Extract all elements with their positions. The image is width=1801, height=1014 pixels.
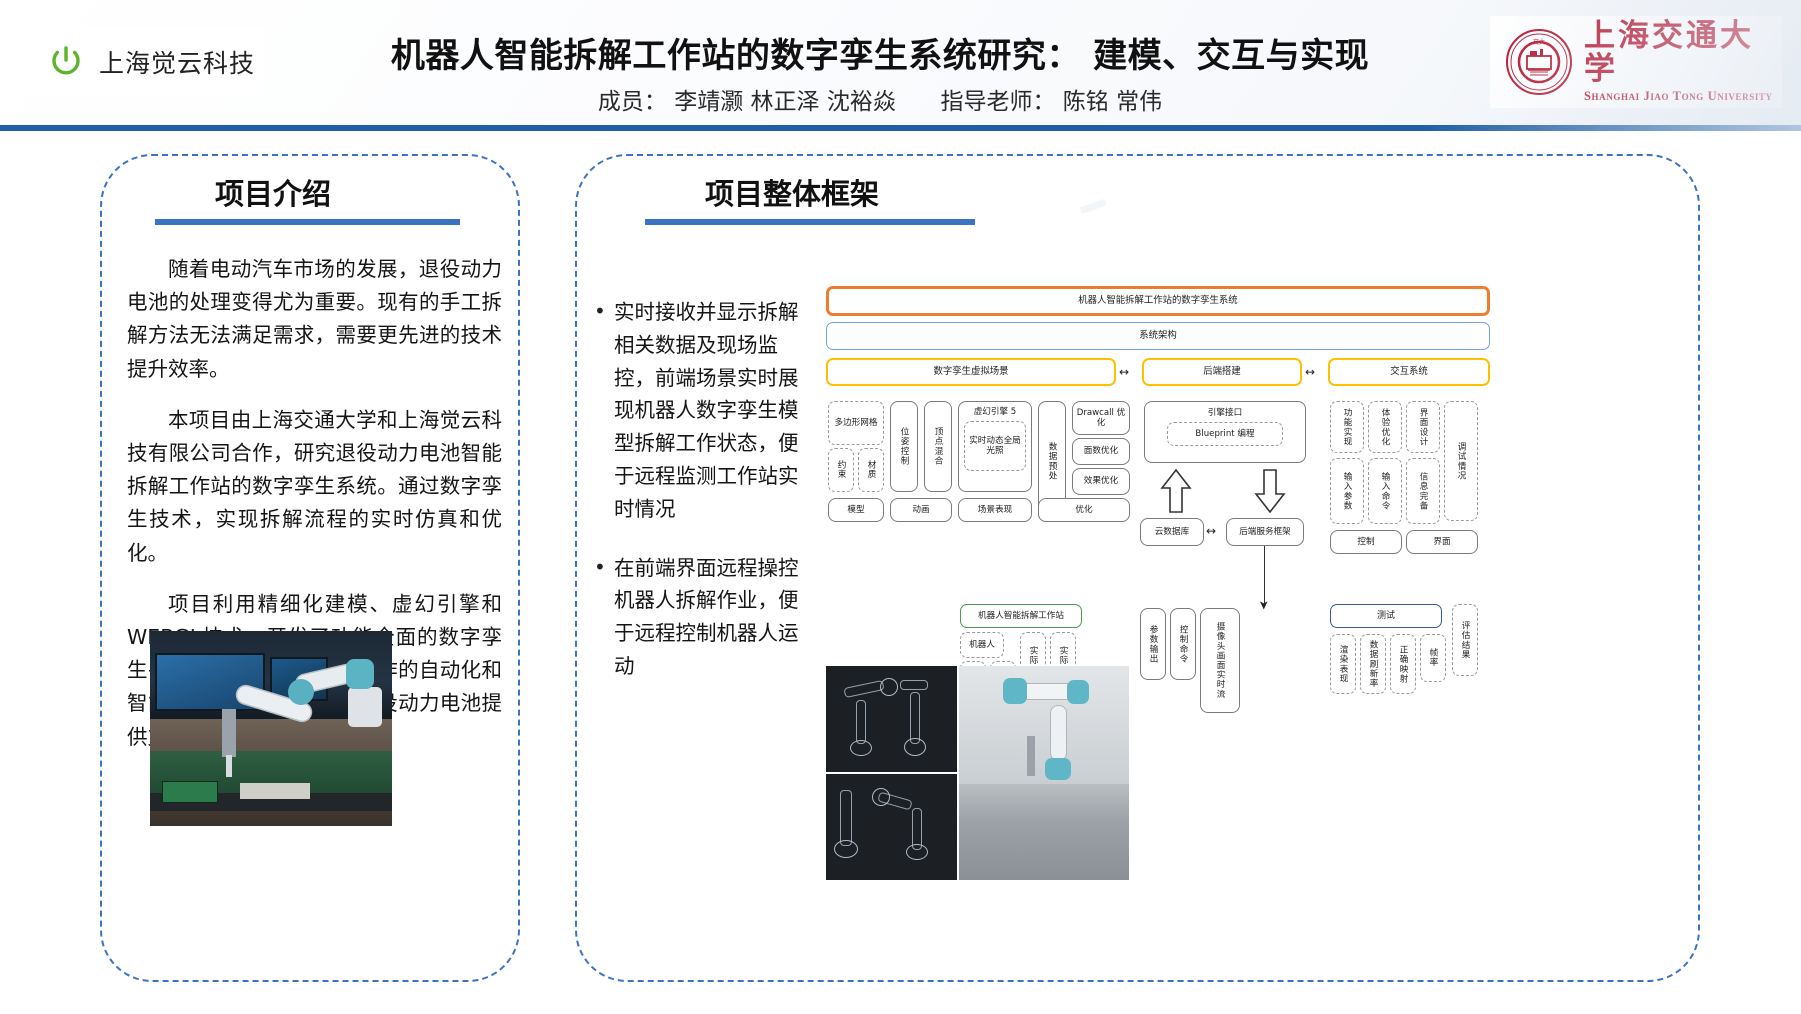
double-arrow-icon: ↔ — [1119, 365, 1129, 379]
cad-model-variants-photo — [826, 774, 957, 880]
list-item: 实时接收并显示拆解相关数据及现场监控，前端场景实时展现机器人数字孪生模型拆解工作… — [592, 296, 807, 526]
column-header-interaction: 交互系统 — [1328, 358, 1490, 386]
node-render-performance: 渲染表现 — [1330, 634, 1356, 694]
node-robot-workstation-title: 机器人智能拆解工作站 — [960, 604, 1082, 628]
university-name-cn: 上海交通大学 — [1584, 20, 1782, 85]
node-blueprint-programming: Blueprint 编程 — [1167, 422, 1283, 446]
node-control-command: 控制命令 — [1170, 608, 1196, 680]
node-input-commands: 输入命令 — [1368, 458, 1402, 524]
node-constraint: 约束 — [828, 448, 854, 492]
node-robot: 机器人 — [960, 632, 1004, 658]
authors-line: 成员： 李靖灏 林正泽 沈裕焱 指导老师： 陈铭 常伟 — [300, 82, 1460, 116]
node-polygon-mesh: 多边形网格 — [828, 401, 884, 445]
node-input-parameters: 输入参数 — [1330, 458, 1364, 524]
node-frame-rate: 帧率 — [1420, 634, 1446, 682]
node-function-implementation: 功能实现 — [1330, 401, 1364, 453]
intro-panel-title: 项目介绍 — [215, 171, 331, 213]
company-logo-text: 上海觉云科技 — [99, 44, 255, 80]
node-camera-live-stream: 摄像头画面实时流 — [1200, 608, 1240, 713]
members-names: 李靖灏 林正泽 沈裕焱 — [674, 89, 896, 115]
connector-line — [1264, 546, 1265, 606]
column-header-virtual-scene: 数字孪生虚拟场景 — [826, 358, 1116, 386]
node-scene-presentation: 场景表现 — [958, 498, 1032, 522]
poster-header: 上海觉云科技 机器人智能拆解工作站的数字孪生系统研究： 建模、交互与实现 成员：… — [0, 0, 1801, 131]
system-architecture-diagram: 机器人智能拆解工作站的数字孪生系统 系统架构 数字孪生虚拟场景 ↔ 后端搭建 ↔… — [822, 286, 1494, 896]
node-vertex-blend: 顶点混合 — [924, 401, 952, 492]
workstation-photo — [150, 631, 392, 826]
node-information-complete: 信息完备 — [1406, 458, 1440, 524]
double-arrow-icon: ↔ — [1206, 524, 1216, 538]
node-evaluation-result: 评估结果 — [1452, 604, 1478, 676]
framework-title-underline — [645, 219, 975, 225]
double-arrow-icon: ↔ — [1305, 365, 1315, 379]
node-parameter-output: 参数输出 — [1140, 608, 1166, 680]
node-debug-status: 调试情况 — [1444, 401, 1478, 521]
diagram-system-title: 机器人智能拆解工作站的数字孪生系统 — [826, 286, 1490, 316]
intro-paragraph: 随着电动汽车市场的发展，退役动力电池的处理变得尤为重要。现有的手工拆解方法无法满… — [127, 253, 502, 386]
node-data-refresh-rate: 数据刷新率 — [1360, 634, 1386, 694]
framework-bullet-list: 实时接收并显示拆解相关数据及现场监控，前端场景实时展现机器人数字孪生模型拆解工作… — [592, 296, 807, 709]
advisor-names: 陈铭 常伟 — [1063, 89, 1162, 115]
advisor-label: 指导老师： — [940, 89, 1055, 115]
intro-title-underline — [155, 219, 460, 225]
node-engine-interface: 引擎接口 Blueprint 编程 — [1144, 401, 1306, 463]
power-icon — [45, 41, 87, 83]
node-optimization: 优化 — [1038, 498, 1130, 522]
node-drawcall-optimize: Drawcall 优化 — [1072, 401, 1130, 435]
framework-panel-title: 项目整体框架 — [705, 171, 879, 213]
column-header-backend: 后端搭建 — [1142, 358, 1302, 386]
cad-model-render-photo — [826, 666, 957, 772]
node-engine-interface-label: 引擎接口 — [1208, 408, 1242, 418]
node-pose-control: 位姿控制 — [890, 401, 918, 492]
node-test-label: 测试 — [1330, 604, 1442, 628]
company-logo: 上海觉云科技 — [33, 28, 265, 96]
node-realtime-global-illumination: 实时动态全局光照 — [964, 421, 1026, 471]
arrow-up-icon — [1160, 468, 1192, 518]
node-effect-optimize: 效果优化 — [1072, 468, 1130, 495]
page-title: 机器人智能拆解工作站的数字孪生系统研究： 建模、交互与实现 — [300, 28, 1460, 77]
poster-body: 项目介绍 随着电动汽车市场的发展，退役动力电池的处理变得尤为重要。现有的手工拆解… — [0, 131, 1801, 1014]
node-interface: 界面 — [1406, 530, 1478, 554]
node-correct-mapping: 正确映射 — [1390, 634, 1416, 694]
intro-paragraph: 本项目由上海交通大学和上海觉云科技有限公司合作，研究退役动力电池智能拆解工作站的… — [127, 404, 502, 570]
list-item: 在前端界面远程操控机器人拆解作业，便于远程控制机器人运动 — [592, 552, 807, 683]
node-experience-optimization: 体验优化 — [1368, 401, 1402, 453]
node-cloud-database: 云数据库 — [1140, 518, 1204, 546]
real-workstation-photo — [959, 666, 1129, 880]
node-face-count-optimize: 面数优化 — [1072, 438, 1130, 465]
node-unreal-engine-5: 虚幻引擎 5 实时动态全局光照 — [958, 401, 1032, 492]
university-name-en: Shanghai Jiao Tong University — [1584, 89, 1782, 104]
diagram-architecture-label: 系统架构 — [826, 322, 1490, 350]
node-material: 材质 — [858, 448, 884, 492]
arrow-down-icon — [1254, 468, 1286, 518]
node-unreal-label: 虚幻引擎 5 — [974, 407, 1017, 417]
svg-text:交大: 交大 — [1533, 38, 1545, 46]
members-label: 成员： — [598, 89, 667, 115]
university-logo-text: 上海交通大学 Shanghai Jiao Tong University — [1584, 20, 1782, 103]
node-model: 模型 — [828, 498, 884, 522]
node-backend-service-framework: 后端服务框架 — [1226, 518, 1304, 546]
arrow-icon: ➤ — [1257, 600, 1271, 610]
university-logo: 交大 上海交通大学 Shanghai Jiao Tong University — [1490, 16, 1782, 108]
node-animation: 动画 — [890, 498, 952, 522]
node-control: 控制 — [1330, 530, 1402, 554]
sjtu-seal-icon: 交大 — [1504, 27, 1574, 97]
node-interface-design: 界面设计 — [1406, 401, 1440, 453]
